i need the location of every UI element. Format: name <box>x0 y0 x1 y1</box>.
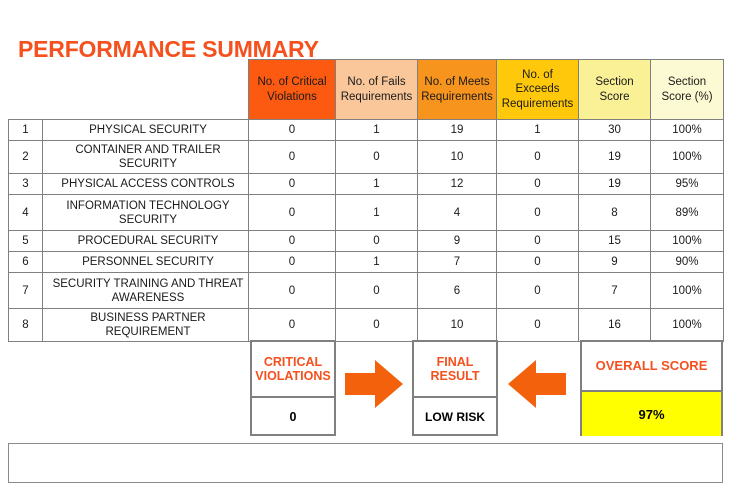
critical-violations-box: CRITICAL VIOLATIONS 0 <box>250 340 336 436</box>
row-fails: 0 <box>336 141 418 174</box>
row-critical-violations: 0 <box>249 120 336 141</box>
row-section-score-pct: 100% <box>651 120 724 141</box>
row-section-score-pct: 95% <box>651 174 724 195</box>
row-fails: 1 <box>336 174 418 195</box>
row-critical-violations: 0 <box>249 231 336 252</box>
row-section-name: INFORMATION TECHNOLOGY SECURITY <box>43 195 249 231</box>
arrow-left-icon <box>508 358 566 410</box>
row-section-score: 8 <box>579 195 651 231</box>
row-exceeds: 0 <box>497 195 579 231</box>
table-row: 5PROCEDURAL SECURITY009015100% <box>9 231 724 252</box>
row-meets: 7 <box>418 252 497 273</box>
row-exceeds: 0 <box>497 141 579 174</box>
row-index: 1 <box>9 120 43 141</box>
row-section-score-pct: 100% <box>651 273 724 309</box>
table-row: 7SECURITY TRAINING AND THREAT AWARENESS0… <box>9 273 724 309</box>
row-section-score: 19 <box>579 174 651 195</box>
row-section-score: 9 <box>579 252 651 273</box>
row-meets: 19 <box>418 120 497 141</box>
row-section-score-pct: 89% <box>651 195 724 231</box>
overall-score-box: OVERALL SCORE 97% <box>580 340 723 436</box>
row-section-name: PHYSICAL ACCESS CONTROLS <box>43 174 249 195</box>
header-section-score-pct: Section Score (%) <box>651 60 724 120</box>
row-section-name: CONTAINER AND TRAILER SECURITY <box>43 141 249 174</box>
header-name-blank <box>43 60 249 120</box>
header-fails-requirements: No. of Fails Requirements <box>336 60 418 120</box>
bottom-empty-panel <box>8 443 723 483</box>
table-row: 4INFORMATION TECHNOLOGY SECURITY0140889% <box>9 195 724 231</box>
row-fails: 1 <box>336 195 418 231</box>
row-section-name: BUSINESS PARTNER REQUIREMENT <box>43 309 249 342</box>
row-section-score: 15 <box>579 231 651 252</box>
table-row: 8BUSINESS PARTNER REQUIREMENT0010016100% <box>9 309 724 342</box>
row-meets: 10 <box>418 309 497 342</box>
row-section-score-pct: 100% <box>651 309 724 342</box>
row-exceeds: 0 <box>497 174 579 195</box>
header-critical-violations: No. of Critical Violations <box>249 60 336 120</box>
row-index: 8 <box>9 309 43 342</box>
table-row: 3PHYSICAL ACCESS CONTROLS011201995% <box>9 174 724 195</box>
row-meets: 9 <box>418 231 497 252</box>
row-section-name: PERSONNEL SECURITY <box>43 252 249 273</box>
row-meets: 10 <box>418 141 497 174</box>
row-index: 2 <box>9 141 43 174</box>
row-meets: 12 <box>418 174 497 195</box>
row-section-score-pct: 90% <box>651 252 724 273</box>
critical-violations-value: 0 <box>252 398 334 436</box>
row-section-score: 30 <box>579 120 651 141</box>
row-section-score: 19 <box>579 141 651 174</box>
row-section-score: 16 <box>579 309 651 342</box>
row-fails: 0 <box>336 309 418 342</box>
critical-violations-label: CRITICAL VIOLATIONS <box>252 342 334 398</box>
header-meets-requirements: No. of Meets Requirements <box>418 60 497 120</box>
row-fails: 0 <box>336 273 418 309</box>
row-meets: 4 <box>418 195 497 231</box>
row-exceeds: 0 <box>497 231 579 252</box>
row-index: 6 <box>9 252 43 273</box>
row-exceeds: 0 <box>497 252 579 273</box>
header-index-blank <box>9 60 43 120</box>
table-row: 2CONTAINER AND TRAILER SECURITY001001910… <box>9 141 724 174</box>
overall-score-label: OVERALL SCORE <box>582 342 721 392</box>
row-section-name: PROCEDURAL SECURITY <box>43 231 249 252</box>
row-critical-violations: 0 <box>249 141 336 174</box>
row-section-score-pct: 100% <box>651 231 724 252</box>
row-exceeds: 0 <box>497 273 579 309</box>
table-header-row: No. of Critical Violations No. of Fails … <box>9 60 724 120</box>
row-index: 3 <box>9 174 43 195</box>
final-result-label: FINAL RESULT <box>414 342 496 398</box>
row-section-name: SECURITY TRAINING AND THREAT AWARENESS <box>43 273 249 309</box>
row-section-score: 7 <box>579 273 651 309</box>
row-exceeds: 1 <box>497 120 579 141</box>
row-critical-violations: 0 <box>249 174 336 195</box>
row-meets: 6 <box>418 273 497 309</box>
row-index: 7 <box>9 273 43 309</box>
table-row: 1PHYSICAL SECURITY0119130100% <box>9 120 724 141</box>
row-critical-violations: 0 <box>249 195 336 231</box>
table-row: 6PERSONNEL SECURITY0170990% <box>9 252 724 273</box>
row-section-score-pct: 100% <box>651 141 724 174</box>
row-index: 4 <box>9 195 43 231</box>
row-critical-violations: 0 <box>249 309 336 342</box>
header-exceeds-requirements: No. of Exceeds Requirements <box>497 60 579 120</box>
header-section-score: Section Score <box>579 60 651 120</box>
arrow-right-icon <box>345 358 403 410</box>
row-section-name: PHYSICAL SECURITY <box>43 120 249 141</box>
final-result-box: FINAL RESULT LOW RISK <box>412 340 498 436</box>
row-fails: 1 <box>336 120 418 141</box>
performance-summary-table: No. of Critical Violations No. of Fails … <box>8 59 724 342</box>
row-critical-violations: 0 <box>249 273 336 309</box>
overall-score-value: 97% <box>582 392 721 436</box>
row-fails: 1 <box>336 252 418 273</box>
row-critical-violations: 0 <box>249 252 336 273</box>
row-exceeds: 0 <box>497 309 579 342</box>
row-fails: 0 <box>336 231 418 252</box>
final-result-value: LOW RISK <box>414 398 496 436</box>
row-index: 5 <box>9 231 43 252</box>
